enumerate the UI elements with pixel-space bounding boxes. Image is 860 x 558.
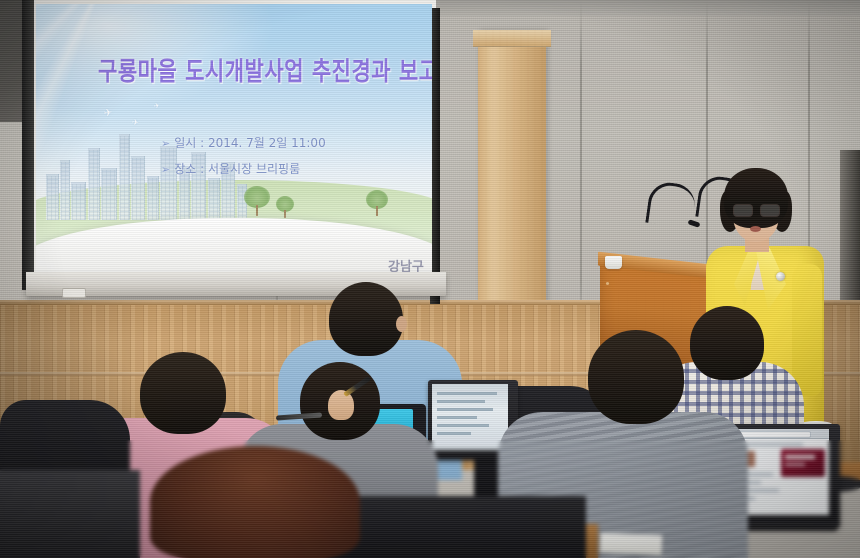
bullet-text: 장소 : 서울시장 브리핑룸 [174,162,300,176]
bird-icon: ✈ [103,107,113,119]
projection-screen: ✈ ✈ ✈ 구룡마을 도시개발사업 추진경과 보고 ➢일시 : 2014. 7월… [22,0,446,305]
foreground-person-dark [0,470,140,558]
speaker-glasses [733,204,779,215]
audience-head [140,352,226,434]
paper-document [600,533,663,555]
column-cap [473,30,551,47]
column-grain [478,30,546,330]
speaker-brooch [776,272,785,281]
bullet-arrow-icon: ➢ [161,163,170,176]
audience-ear [396,316,407,332]
slide-bullet-datetime: ➢일시 : 2014. 7월 2일 11:00 [161,134,326,151]
screen-pull-tab[interactable] [62,288,86,298]
audience-person-long-hair [150,446,360,558]
audience-head [588,330,684,424]
laptop-screen [432,384,508,450]
bullet-text: 일시 : 2014. 7월 2일 11:00 [174,136,325,150]
audience-hand [328,390,354,420]
presentation-slide: ✈ ✈ ✈ 구룡마을 도시개발사업 추진경과 보고 ➢일시 : 2014. 7월… [36,4,432,274]
wood-column [478,30,546,330]
slide-title: 구룡마을 도시개발사업 추진경과 보고 [98,52,418,89]
speaker-mouth [750,226,761,232]
wall-panel-seam [580,0,582,330]
slide-tree [366,190,388,216]
speaker-arm [792,264,822,396]
briefing-room-photo: ✈ ✈ ✈ 구룡마을 도시개발사업 추진경과 보고 ➢일시 : 2014. 7월… [0,0,860,558]
bird-icon: ✈ [132,118,140,128]
audience-head [690,306,764,380]
slide-bullet-location: ➢장소 : 서울시장 브리핑룸 [161,160,300,177]
speaker-hair [724,168,788,228]
audience-head [329,282,403,356]
slide-tree [276,196,294,218]
podium-cup [605,256,622,269]
screen-border-left [22,0,34,290]
slide-tree [244,186,270,216]
page-banner-ad[interactable] [781,449,825,477]
bullet-arrow-icon: ➢ [161,137,170,150]
